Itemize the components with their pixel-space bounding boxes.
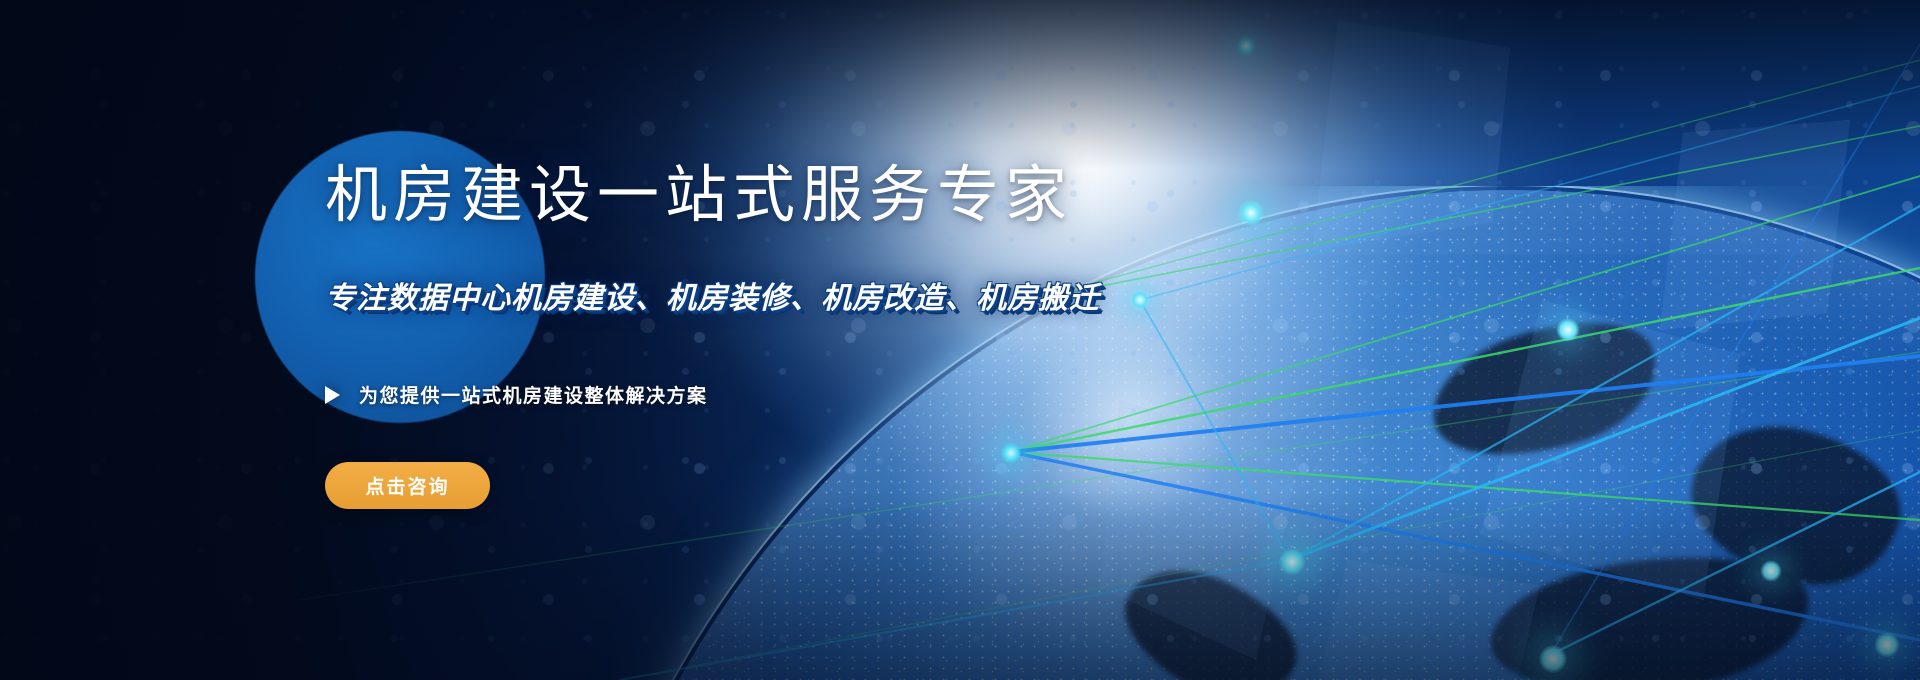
triangle-right-icon	[325, 386, 340, 404]
network-node	[1760, 560, 1782, 582]
network-node	[1556, 318, 1580, 342]
hero-tagline-row: 为您提供一站式机房建设整体解决方案	[325, 381, 708, 408]
network-node	[1538, 644, 1568, 674]
facet-polygon	[1660, 120, 1850, 330]
hero-banner: 机房建设一站式服务专家 专注数据中心机房建设、机房装修、机房改造、机房搬迁 为您…	[0, 0, 1920, 680]
hero-tagline: 为您提供一站式机房建设整体解决方案	[359, 381, 708, 408]
consult-button[interactable]: 点击咨询	[325, 462, 490, 509]
facet-polygon	[1480, 300, 1740, 600]
landmass-shape	[1417, 297, 1673, 482]
hero-headline: 机房建设一站式服务专家	[325, 165, 1073, 227]
network-node	[1874, 632, 1900, 658]
landmass-shape	[1677, 410, 1914, 600]
hero-subtitle: 专注数据中心机房建设、机房装修、机房改造、机房搬迁	[325, 284, 1100, 314]
landmass-shape	[1483, 538, 1818, 680]
hero-copy: 机房建设一站式服务专家 专注数据中心机房建设、机房装修、机房改造、机房搬迁 为您…	[325, 0, 1425, 680]
